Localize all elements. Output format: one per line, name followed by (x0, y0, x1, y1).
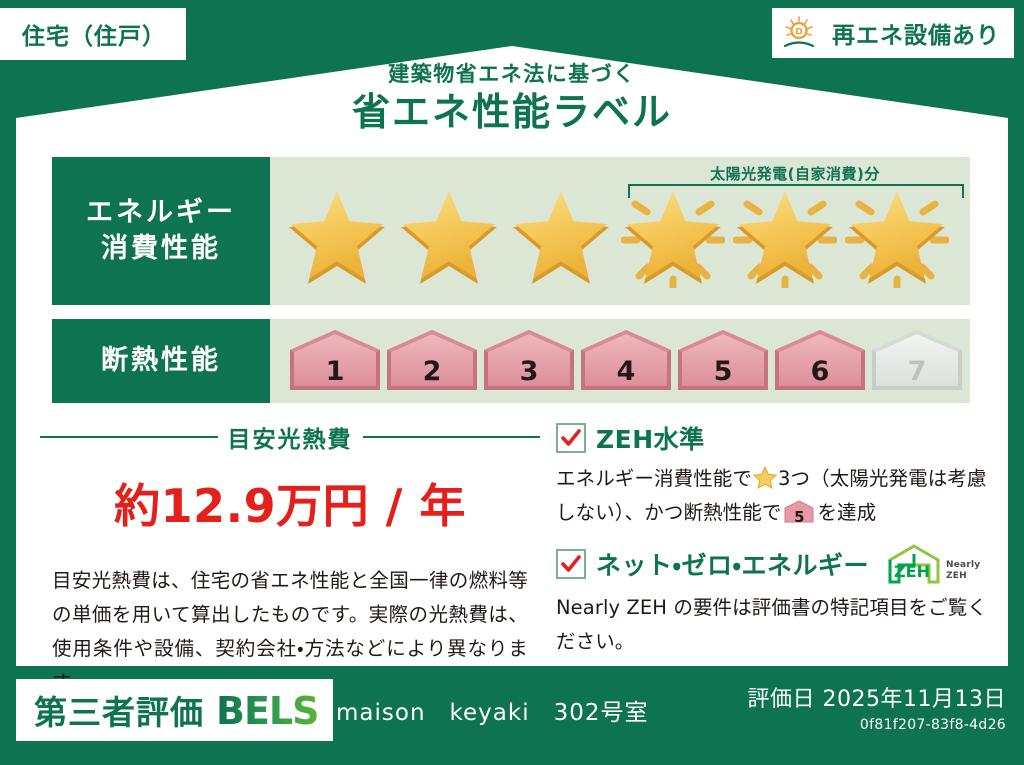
energy-label-line2: 消費性能 (101, 231, 221, 267)
insulation-level-6: 6 (773, 328, 867, 394)
bels-tag: 第三者評価 BELS (16, 679, 333, 741)
zeh-body-part1: エネルギー消費性能で (556, 467, 752, 490)
utility-cost-column: 目安光熱費 約12.9万円 / 年 目安光熱費は、住宅の省エネ性能と全国一律の燃… (40, 420, 540, 701)
cost-value: 約12.9万円 / 年 (40, 470, 540, 536)
inline-house-value: 5 (784, 505, 814, 531)
energy-row-label: エネルギー 消費性能 (52, 157, 270, 305)
zeh-body-star-count: 3つ（太陽光発電 (778, 467, 928, 490)
bels-jp-text: 第三者評価 (34, 686, 204, 734)
cost-rule-right (363, 436, 541, 438)
zeh-logo-sub1: Nearly (946, 560, 980, 570)
zeh-logo-sub2: ZEH (946, 571, 967, 581)
renewable-equipment-badge: D 再エネ設備あり (772, 8, 1014, 58)
energy-row-body: 太陽光発電(自家消費)分 (270, 157, 970, 305)
insulation-level-2: 2 (385, 328, 479, 394)
title-main: 省エネ性能ラベル (0, 89, 1024, 137)
insulation-level-5: 5 (676, 328, 770, 394)
checkbox-checked-icon (556, 549, 586, 579)
net-zero-body: Nearly ZEH の要件は評価書の特記項目をご覧ください。 (556, 591, 992, 658)
svg-text:D: D (795, 28, 802, 38)
star-rating-strip (270, 186, 952, 290)
zeh-body-part3: を達成 (817, 501, 876, 524)
energy-label-line1: エネルギー (86, 195, 236, 231)
net-zero-heading: ネット・ゼロ・エネルギー ZEH Nearly ZEH (556, 543, 992, 585)
star-icon (394, 186, 504, 290)
solar-sun-icon: D (782, 14, 824, 52)
insulation-performance-row: 断熱性能 1234567 (52, 319, 970, 403)
energy-performance-label: 住宅（住戸） D 再エネ設備あり 建築物省エネ (0, 0, 1024, 765)
svg-text:ZEH: ZEH (894, 562, 930, 581)
bels-en-text: BELS (216, 689, 319, 733)
checkbox-checked-icon (556, 423, 586, 453)
zeh-standard-block: ZEH水準 エネルギー消費性能で 3つ（太陽光発電は考慮しない）、かつ断熱性能で… (556, 420, 992, 529)
evaluation-id: 0f81f207-83f8-4d26 (748, 717, 1006, 733)
zeh-standard-heading: ZEH水準 (556, 420, 992, 456)
cost-heading-text: 目安光熱費 (228, 420, 353, 454)
zeh-standard-title: ZEH水準 (596, 420, 705, 456)
star-icon-solar (730, 186, 840, 290)
insulation-row-label: 断熱性能 (52, 319, 270, 403)
zeh-house-logo-icon: ZEH (885, 543, 943, 585)
insulation-level-7: 7 (870, 328, 964, 394)
label-title: 建築物省エネ法に基づく 省エネ性能ラベル (0, 62, 1024, 137)
footer-right: 評価日 2025年11月13日 0f81f207-83f8-4d26 (748, 681, 1006, 733)
performance-rows: エネルギー 消費性能 太陽光発電(自家消費)分 断熱性能 1234567 (52, 157, 970, 417)
zeh-column: ZEH水準 エネルギー消費性能で 3つ（太陽光発電は考慮しない）、かつ断熱性能で… (540, 420, 992, 701)
star-icon-solar (618, 186, 728, 290)
insulation-label-text: 断熱性能 (101, 343, 221, 379)
category-tag: 住宅（住戸） (0, 8, 186, 60)
zeh-logo-subtext: Nearly ZEH (946, 560, 980, 585)
insulation-level-1: 1 (288, 328, 382, 394)
inline-star-icon (753, 466, 777, 489)
star-icon (506, 186, 616, 290)
zeh-standard-body: エネルギー消費性能で 3つ（太陽光発電は考慮しない）、かつ断熱性能で 5 を達成 (556, 462, 992, 529)
cost-rule-left (40, 436, 218, 438)
building-name: maison keyaki 302号室 (336, 693, 649, 727)
zeh-logo: ZEH Nearly ZEH (885, 543, 980, 585)
insulation-row-body: 1234567 (270, 319, 970, 403)
cost-heading: 目安光熱費 (40, 420, 540, 454)
inline-house-badge: 5 (784, 500, 814, 523)
title-subtitle: 建築物省エネ法に基づく (0, 62, 1024, 87)
insulation-level-4: 4 (579, 328, 673, 394)
lower-content: 目安光熱費 約12.9万円 / 年 目安光熱費は、住宅の省エネ性能と全国一律の燃… (40, 420, 992, 701)
renewable-badge-label: 再エネ設備あり (832, 16, 1000, 50)
net-zero-block: ネット・ゼロ・エネルギー ZEH Nearly ZEH Nearly ZE (556, 543, 992, 658)
insulation-level-3: 3 (482, 328, 576, 394)
solar-generation-note: 太陽光発電(自家消費)分 (630, 163, 960, 184)
evaluation-date: 評価日 2025年11月13日 (748, 681, 1006, 713)
label-footer: 第三者評価 BELS maison keyaki 302号室 評価日 2025年… (0, 669, 1024, 765)
net-zero-title: ネット・ゼロ・エネルギー (596, 546, 869, 582)
insulation-level-strip: 1234567 (270, 328, 964, 394)
energy-performance-row: エネルギー 消費性能 太陽光発電(自家消費)分 (52, 157, 970, 305)
star-icon (282, 186, 392, 290)
star-icon-solar (842, 186, 952, 290)
